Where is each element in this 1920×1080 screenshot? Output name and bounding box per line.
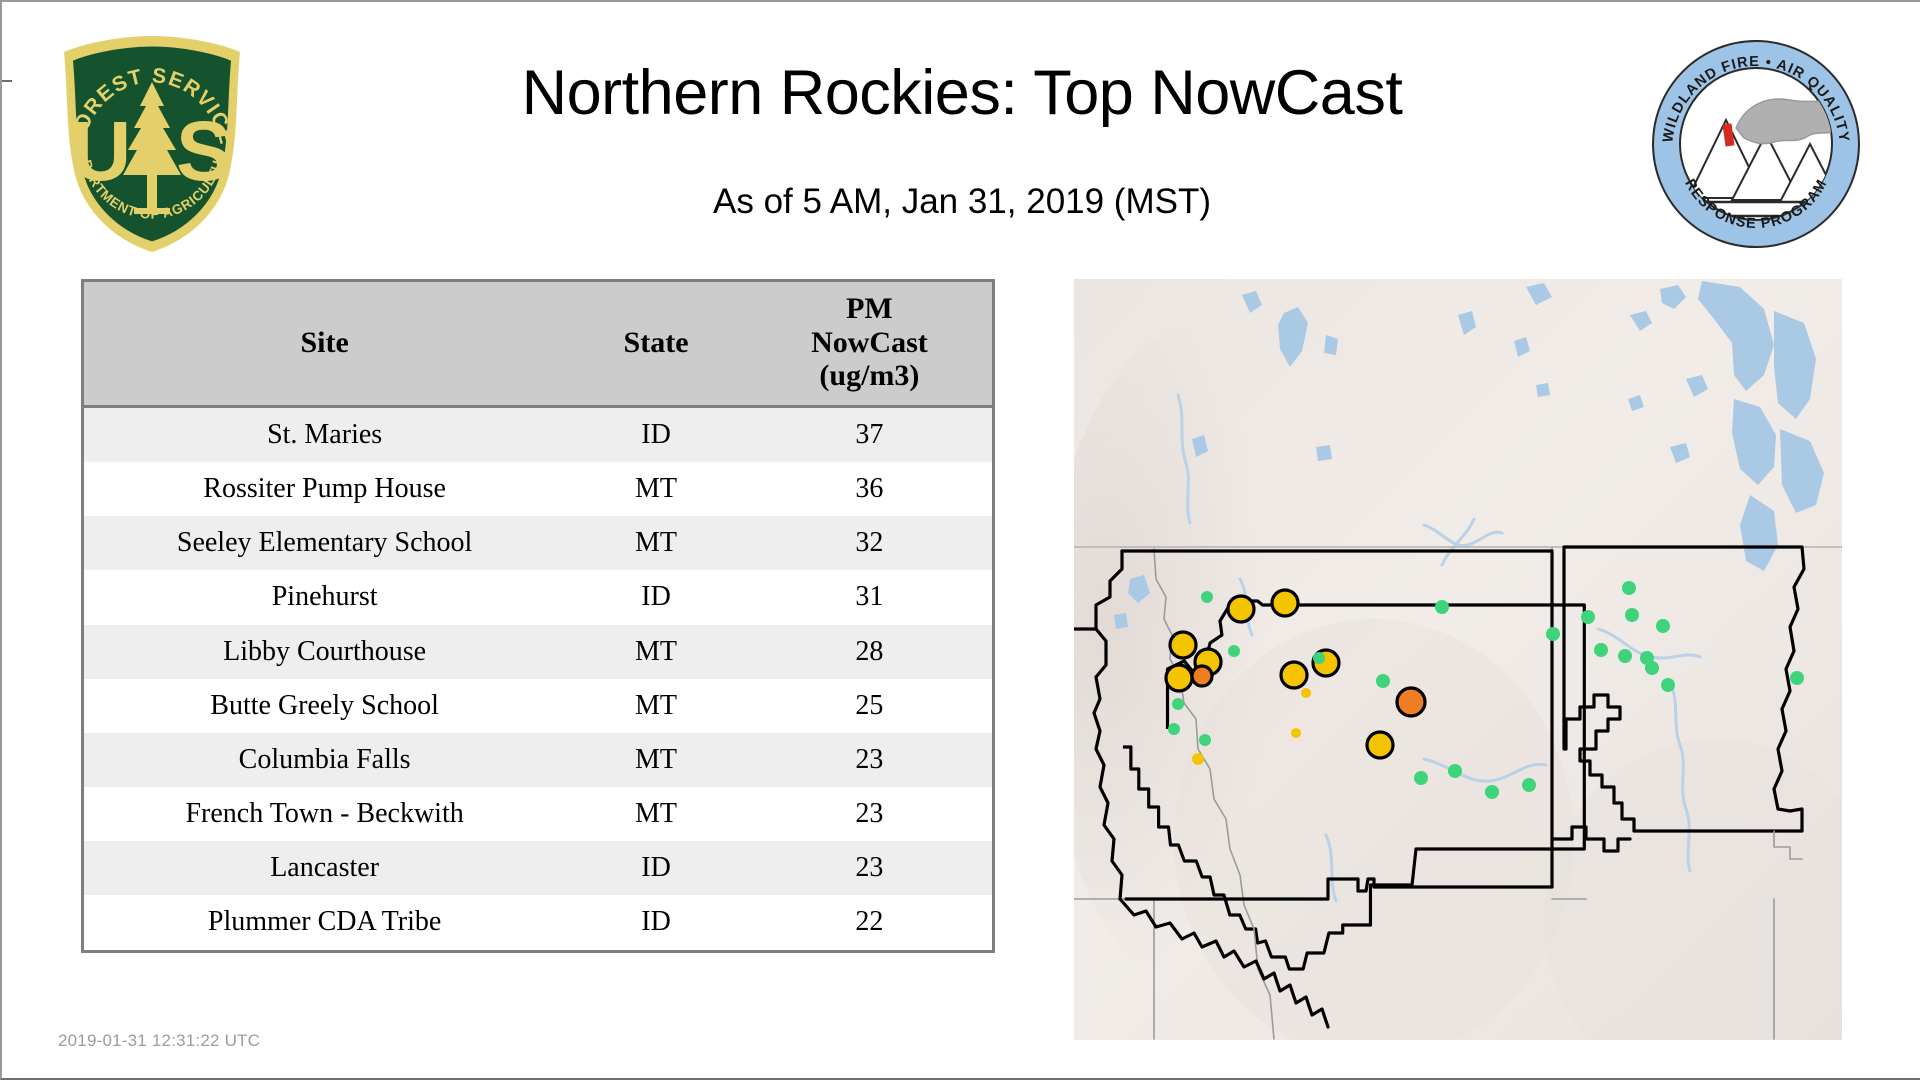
site-cell: Seeley Elementary School [84,516,565,570]
map-marker-good[interactable] [1168,723,1180,735]
page-title: Northern Rockies: Top NowCast [2,60,1920,126]
pm-cell: 37 [747,406,992,462]
site-cell: Rossiter Pump House [84,462,565,516]
column-header-site[interactable]: Site [84,282,565,406]
map-marker-good[interactable] [1414,771,1428,785]
map-marker-moderate[interactable] [1166,665,1192,691]
map-marker-good[interactable] [1618,649,1632,663]
table-row[interactable]: Libby CourthouseMT28 [84,625,992,679]
table-row[interactable]: Rossiter Pump HouseMT36 [84,462,992,516]
site-cell: Libby Courthouse [84,625,565,679]
map-marker-good[interactable] [1448,764,1462,778]
table-row[interactable]: LancasterID23 [84,841,992,895]
table-body: St. MariesID37Rossiter Pump HouseMT36See… [84,406,992,949]
pm-cell: 28 [747,625,992,679]
site-cell: Pinehurst [84,570,565,624]
map-marker-good[interactable] [1376,674,1390,688]
state-cell: MT [565,679,747,733]
pm-cell: 23 [747,787,992,841]
pm-cell: 23 [747,841,992,895]
map-marker-good[interactable] [1199,734,1211,746]
pm-header-line3: (ug/m3) [819,359,919,392]
pm-cell: 23 [747,733,992,787]
site-cell: Butte Greely School [84,679,565,733]
column-header-pm-nowcast[interactable]: PM NowCast (ug/m3) [747,282,992,406]
pm-cell: 25 [747,679,992,733]
map-marker-good[interactable] [1485,785,1499,799]
map-marker-moderate[interactable] [1291,728,1301,738]
nowcast-table: Site State PM NowCast (ug/m3) St. Maries… [84,282,992,950]
site-cell: French Town - Beckwith [84,787,565,841]
site-cell: Lancaster [84,841,565,895]
map-marker-good[interactable] [1594,643,1608,657]
map-marker-moderate[interactable] [1367,732,1393,758]
table-row[interactable]: French Town - BeckwithMT23 [84,787,992,841]
slide-page: FOREST SERVICE DEPARTMENT OF AGRICULTURE… [0,0,1920,1080]
pm-cell: 32 [747,516,992,570]
page-subtitle: As of 5 AM, Jan 31, 2019 (MST) [2,182,1920,222]
map-marker-good[interactable] [1435,600,1449,614]
site-cell: Columbia Falls [84,733,565,787]
column-header-state[interactable]: State [565,282,747,406]
map-panel[interactable] [1074,279,1842,1040]
state-cell: MT [565,625,747,679]
map-marker-moderate[interactable] [1228,596,1254,622]
map-marker-good[interactable] [1625,608,1639,622]
pm-cell: 22 [747,895,992,949]
pm-cell: 36 [747,462,992,516]
map-marker-good[interactable] [1201,591,1213,603]
table-row[interactable]: Seeley Elementary SchoolMT32 [84,516,992,570]
map-marker-good[interactable] [1522,778,1536,792]
table-header: Site State PM NowCast (ug/m3) [84,282,992,406]
site-cell: Plummer CDA Tribe [84,895,565,949]
map-marker-moderate[interactable] [1281,662,1307,688]
map-marker-good[interactable] [1546,627,1560,641]
table-row[interactable]: PinehurstID31 [84,570,992,624]
map-marker-moderate[interactable] [1170,632,1196,658]
site-cell: St. Maries [84,406,565,462]
map-marker-good[interactable] [1172,698,1184,710]
state-cell: MT [565,516,747,570]
state-cell: MT [565,733,747,787]
table-row[interactable]: St. MariesID37 [84,406,992,462]
map-marker-good[interactable] [1228,645,1240,657]
map-marker-good[interactable] [1790,671,1804,685]
nowcast-table-container: Site State PM NowCast (ug/m3) St. Maries… [81,279,995,953]
pm-header-line2: NowCast [811,326,928,359]
table-row[interactable]: Columbia FallsMT23 [84,733,992,787]
map-marker-moderate[interactable] [1272,590,1298,616]
map-marker-moderate[interactable] [1192,753,1204,765]
map-marker-good[interactable] [1656,619,1670,633]
state-cell: ID [565,406,747,462]
map-marker-moderate[interactable] [1301,688,1311,698]
state-cell: ID [565,895,747,949]
map-marker-good[interactable] [1581,610,1595,624]
map-marker-usg[interactable] [1397,688,1425,716]
state-cell: ID [565,841,747,895]
state-cell: MT [565,462,747,516]
state-cell: MT [565,787,747,841]
map-marker-good[interactable] [1313,652,1325,664]
pm-cell: 31 [747,570,992,624]
map-marker-good[interactable] [1622,581,1636,595]
map-marker-good[interactable] [1645,661,1659,675]
table-row[interactable]: Plummer CDA TribeID22 [84,895,992,949]
table-header-row: Site State PM NowCast (ug/m3) [84,282,992,406]
state-cell: ID [565,570,747,624]
table-row[interactable]: Butte Greely SchoolMT25 [84,679,992,733]
pm-header-line1: PM [846,292,893,325]
map-marker-usg[interactable] [1192,666,1212,686]
map-marker-good[interactable] [1661,678,1675,692]
generated-timestamp: 2019-01-31 12:31:22 UTC [58,1031,260,1051]
